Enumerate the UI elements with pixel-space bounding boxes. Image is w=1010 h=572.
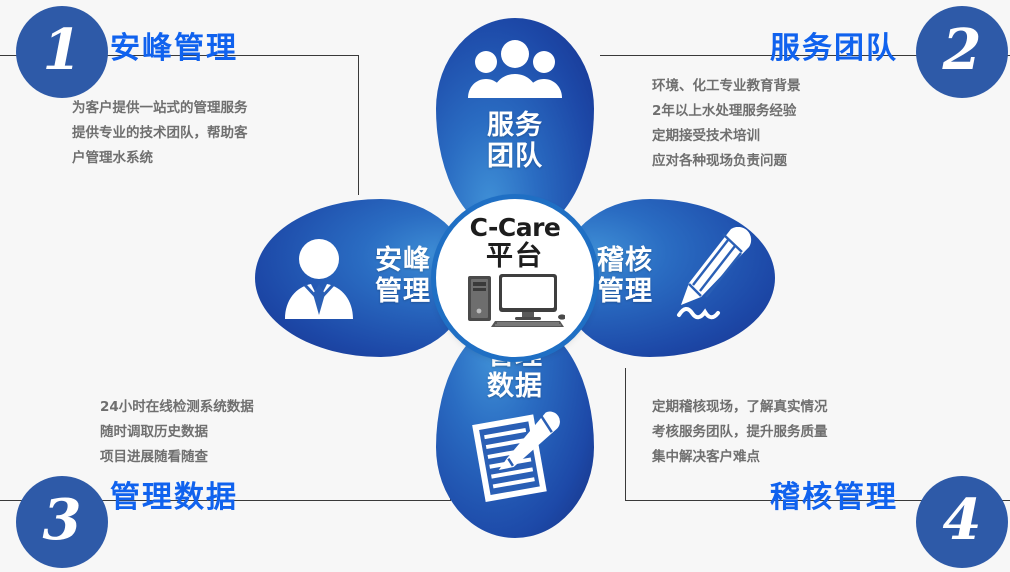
section-body-data-management: 24小时在线检测系统数据 随时调取历史数据 项目进展随看随查 bbox=[100, 395, 254, 470]
pencil-icon bbox=[671, 227, 763, 327]
body-line: 24小时在线检测系统数据 bbox=[100, 395, 254, 420]
badge-number: 4 bbox=[943, 492, 982, 548]
section-badge-1[interactable]: 1 bbox=[16, 6, 108, 98]
center-hub-c-care-platform[interactable]: C-Care 平台 bbox=[436, 199, 594, 357]
body-line: 户管理水系统 bbox=[72, 146, 248, 171]
people-group-icon bbox=[466, 40, 564, 98]
badge-number: 2 bbox=[943, 22, 982, 78]
desktop-computer-icon bbox=[465, 272, 565, 332]
body-line: 提供专业的技术团队，帮助客 bbox=[72, 121, 248, 146]
infographic-canvas: 1 2 3 4 安峰管理 服务团队 管理数据 稽核管理 为客户提供一站式的管理服… bbox=[0, 0, 1010, 572]
section-badge-2[interactable]: 2 bbox=[916, 6, 1008, 98]
body-line: 随时调取历史数据 bbox=[100, 420, 254, 445]
four-petal-diagram: 服务 团队 安峰 管理 稽核 管理 bbox=[255, 18, 775, 538]
section-heading-audit-management: 稽核管理 bbox=[770, 472, 898, 516]
section-body-anfeng-management: 为客户提供一站式的管理服务 提供专业的技术团队，帮助客 户管理水系统 bbox=[72, 96, 248, 171]
section-badge-4[interactable]: 4 bbox=[916, 476, 1008, 568]
section-heading-anfeng-management: 安峰管理 bbox=[110, 23, 238, 67]
body-line: 为客户提供一站式的管理服务 bbox=[72, 96, 248, 121]
badge-number: 1 bbox=[43, 22, 82, 78]
petal-label-service-team: 服务 团队 bbox=[436, 110, 594, 172]
section-heading-data-management: 管理数据 bbox=[110, 472, 238, 516]
badge-number: 3 bbox=[43, 492, 82, 548]
section-badge-3[interactable]: 3 bbox=[16, 476, 108, 568]
body-line: 项目进展随看随查 bbox=[100, 445, 254, 470]
hub-title: C-Care bbox=[470, 215, 561, 240]
document-pencil-icon bbox=[470, 408, 562, 502]
section-heading-service-team: 服务团队 bbox=[770, 23, 898, 67]
manager-person-icon bbox=[279, 237, 359, 319]
hub-subtitle: 平台 bbox=[486, 243, 544, 270]
